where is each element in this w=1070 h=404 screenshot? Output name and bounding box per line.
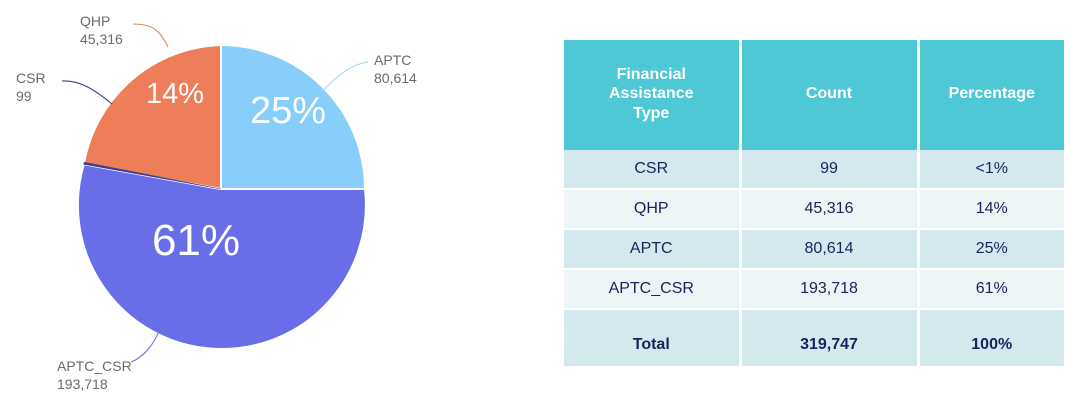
pie-chart-panel: 25% 61% 14% QHP 45,316 CSR 99 APTC 80,61… — [0, 0, 540, 404]
cell-total-percentage: 100% — [918, 324, 1064, 366]
column-header-count[interactable]: Count — [740, 40, 918, 150]
column-header-type-line1: Financial — [617, 66, 686, 83]
pie-slice-label-qhp: 14% — [146, 78, 204, 110]
pie-chart-svg: 25% 61% 14% QHP 45,316 CSR 99 APTC 80,61… — [0, 0, 540, 404]
table-row[interactable]: CSR 99 <1% — [564, 150, 1064, 189]
table-header-row: Financial Assistance Type Count Percenta… — [564, 40, 1064, 150]
cell-count: 193,718 — [740, 269, 918, 309]
leader-line-csr — [62, 81, 112, 104]
cell-percentage: 14% — [918, 189, 1064, 229]
cell-type: CSR — [564, 150, 740, 189]
cell-total-label: Total — [564, 324, 740, 366]
financial-assistance-table-panel: Financial Assistance Type Count Percenta… — [564, 40, 1064, 362]
leader-line-aptc — [322, 62, 368, 92]
leader-line-qhp — [133, 24, 168, 47]
column-header-type-line2: Assistance — [609, 85, 694, 102]
pie-callout-qhp-name: QHP — [80, 13, 110, 29]
table-row-total[interactable]: Total 319,747 100% — [564, 324, 1064, 366]
spacer-cell — [564, 309, 740, 324]
spacer-cell — [918, 309, 1064, 324]
spacer-cell — [740, 309, 918, 324]
pie-callout-aptc-csr-name: APTC_CSR — [57, 358, 132, 374]
table-header: Financial Assistance Type Count Percenta… — [564, 40, 1064, 150]
table-row-spacer — [564, 309, 1064, 324]
pie-callout-aptc-csr-value: 193,718 — [57, 376, 108, 392]
table-body: CSR 99 <1% QHP 45,316 14% APTC 80,614 25… — [564, 150, 1064, 366]
cell-percentage: 25% — [918, 229, 1064, 269]
pie-callout-aptc-name: APTC — [374, 52, 411, 68]
cell-type: QHP — [564, 189, 740, 229]
cell-type: APTC_CSR — [564, 269, 740, 309]
table-row[interactable]: APTC 80,614 25% — [564, 229, 1064, 269]
pie-slice-label-aptc: 25% — [250, 90, 326, 132]
column-header-type[interactable]: Financial Assistance Type — [564, 40, 740, 150]
column-header-percentage[interactable]: Percentage — [918, 40, 1064, 150]
financial-assistance-table: Financial Assistance Type Count Percenta… — [564, 40, 1064, 366]
slide-root: 25% 61% 14% QHP 45,316 CSR 99 APTC 80,61… — [0, 0, 1070, 404]
cell-count: 99 — [740, 150, 918, 189]
cell-percentage: <1% — [918, 150, 1064, 189]
cell-percentage: 61% — [918, 269, 1064, 309]
pie-callout-csr-value: 99 — [16, 88, 32, 104]
table-row[interactable]: QHP 45,316 14% — [564, 189, 1064, 229]
cell-count: 45,316 — [740, 189, 918, 229]
cell-type: APTC — [564, 229, 740, 269]
pie-callout-qhp-value: 45,316 — [80, 31, 123, 47]
cell-count: 80,614 — [740, 229, 918, 269]
cell-total-count: 319,747 — [740, 324, 918, 366]
pie-slice-label-aptc-csr: 61% — [152, 216, 240, 265]
pie-callout-aptc-value: 80,614 — [374, 70, 417, 86]
table-row[interactable]: APTC_CSR 193,718 61% — [564, 269, 1064, 309]
pie-callout-csr-name: CSR — [16, 70, 46, 86]
column-header-type-line3: Type — [633, 105, 669, 122]
